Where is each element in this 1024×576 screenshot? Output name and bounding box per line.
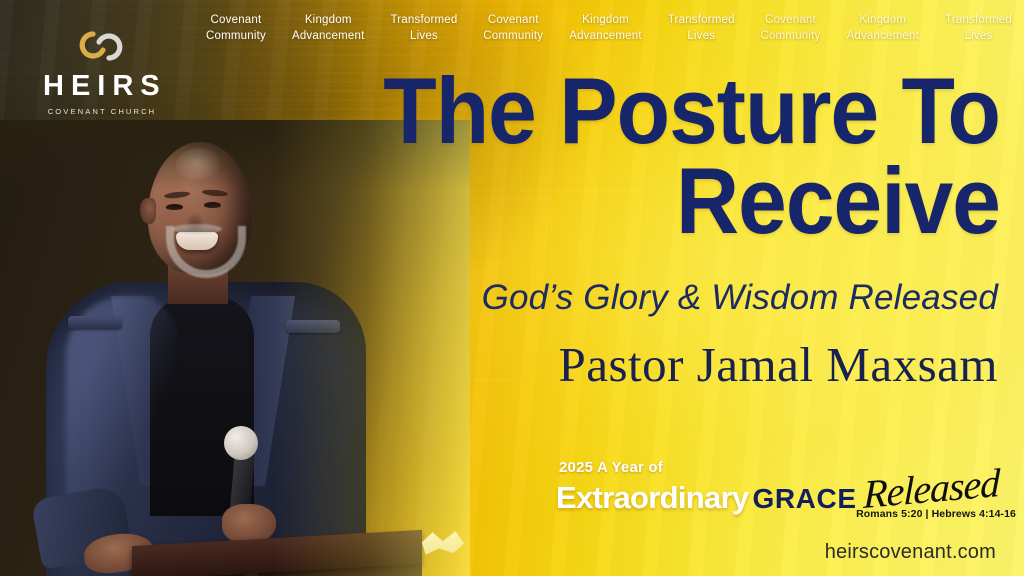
website-url[interactable]: heirscovenant.com [825, 541, 996, 564]
year-theme-lockup: 2025 A Year of Extraordinary GRACE Relea… [556, 459, 1018, 521]
speaker-name: Pastor Jamal Maxsam [232, 336, 998, 393]
title-line-1: The Posture To [288, 66, 1000, 156]
logo-wordmark: HEIRS [36, 72, 166, 101]
year-theme-grace: GRACE [752, 485, 856, 513]
year-theme-extraordinary: Extraordinary [556, 482, 748, 513]
logo-tagline: COVENANT CHURCH [36, 107, 166, 116]
interlocking-rings-icon [36, 24, 166, 68]
sermon-slide: HEIRS COVENANT CHURCH Covenant Community… [0, 0, 1024, 576]
sermon-title: The Posture To Receive [234, 66, 1000, 246]
title-line-2: Receive [288, 156, 1000, 246]
church-logo[interactable]: HEIRS COVENANT CHURCH [36, 24, 166, 116]
sermon-subtitle: God’s Glory & Wisdom Released [232, 278, 998, 318]
scripture-references: Romans 5:20 | Hebrews 4:14-16 [856, 508, 1016, 520]
